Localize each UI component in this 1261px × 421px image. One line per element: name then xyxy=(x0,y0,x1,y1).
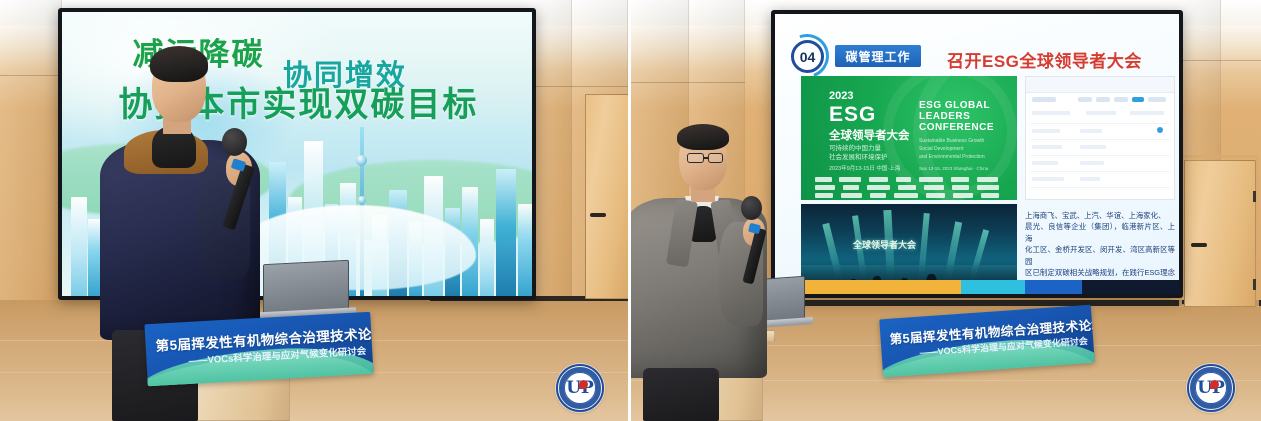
watermark-seal-logo: UP xyxy=(556,364,604,412)
section-badge-label: 碳管理工作 xyxy=(845,48,910,65)
poster-en-line2: LEADERS xyxy=(919,112,970,122)
poster-cn-title: 全球领导者大会 xyxy=(829,127,910,143)
wall-seam xyxy=(1171,60,1261,61)
slide-title: 召开ESG全球领导者大会 xyxy=(947,47,1142,72)
wall-seam xyxy=(530,86,628,87)
laptop-screen xyxy=(263,260,349,315)
section-badge: 碳管理工作 xyxy=(835,45,921,67)
room-door[interactable] xyxy=(585,94,628,299)
room-door[interactable] xyxy=(1184,160,1256,307)
body-line: 化工区、金桥开发区、闵开发、湾区高新区等园 xyxy=(1025,244,1175,267)
wall-seam xyxy=(0,75,62,76)
poster-en-line1: ESG GLOBAL xyxy=(919,101,990,111)
microphone-head xyxy=(741,196,762,220)
poster-en-line3: CONFERENCE xyxy=(919,123,994,133)
door-handle[interactable] xyxy=(590,213,606,217)
poster-en-sub2: Social Development xyxy=(919,146,963,152)
slide-bottom-strip xyxy=(775,280,1179,294)
watermark-seal-logo: UP xyxy=(1187,364,1235,412)
poster-en-date: Sep 13-15, 2023 Shanghai · China xyxy=(919,166,988,172)
eyeglasses-right-lens xyxy=(708,153,723,163)
wall-seam xyxy=(631,82,745,83)
seal-inner: UP xyxy=(564,372,596,404)
microphone-head xyxy=(222,128,247,156)
screen-face: 04 碳管理工作 召开ESG全球领导者大会 2023 ESG 全球领导 xyxy=(775,14,1179,294)
podium-banner-left: 第5届挥发性有机物综合治理技术论坛 ——VOCs科学治理与应对气候变化研讨会 xyxy=(144,312,373,387)
slide-right: 04 碳管理工作 召开ESG全球领导者大会 2023 ESG 全球领导 xyxy=(775,14,1179,294)
esg-conference-poster: 2023 ESG 全球领导者大会 可持续的中国力量 社会发展和环境保护 2023… xyxy=(801,76,1017,200)
poster-en-sub1: Sustainable Business Growth xyxy=(919,138,984,144)
poster-year: 2023 xyxy=(829,90,853,102)
poster-cn-date: 2023年9月13-15日 中国·上海 xyxy=(829,164,900,172)
slide-page-number: 20 xyxy=(1164,272,1171,278)
panel-toolbar xyxy=(1026,77,1174,93)
strip-dark xyxy=(1082,280,1179,294)
door-hinge xyxy=(1253,191,1256,202)
screenshot-root: 减污降碳 协同增效 协推本市实现双碳目标 xyxy=(0,0,1261,421)
poster-cn-sub2: 社会发展和环境保护 xyxy=(829,151,888,161)
seal-inner: UP xyxy=(1195,372,1227,404)
section-number-badge: 04 xyxy=(791,40,824,73)
led-display-wall: 04 碳管理工作 召开ESG全球领导者大会 2023 ESG 全球领导 xyxy=(771,10,1183,298)
poster-en-sub3: and Environmental Protection xyxy=(919,154,985,160)
poster-brand: ESG xyxy=(829,103,876,127)
eyeglasses-left-lens xyxy=(687,153,704,163)
speaker-hair xyxy=(150,46,208,82)
eyeglasses-bridge xyxy=(704,157,708,159)
left-conference-photo: 减污降碳 协同增效 协推本市实现双碳目标 xyxy=(0,0,628,421)
speaker-trousers xyxy=(643,368,719,421)
data-table-panel xyxy=(1025,76,1175,200)
strip-blue xyxy=(1025,280,1082,294)
body-line: 上海商飞、宝武、上汽、华谊、上海家化、 xyxy=(1025,210,1175,221)
stage-banner-text: 全球领导者大会 xyxy=(853,238,916,251)
body-line: 晨光、良信等企业（集团），临港新片区、上海 xyxy=(1025,221,1175,244)
right-conference-photo: 04 碳管理工作 召开ESG全球领导者大会 2023 ESG 全球领导 xyxy=(631,0,1261,421)
strip-cyan xyxy=(961,280,1026,294)
door-handle[interactable] xyxy=(1191,243,1207,247)
section-number: 04 xyxy=(800,49,816,65)
door-hinge xyxy=(1253,279,1256,290)
speaker-hair xyxy=(677,124,729,150)
